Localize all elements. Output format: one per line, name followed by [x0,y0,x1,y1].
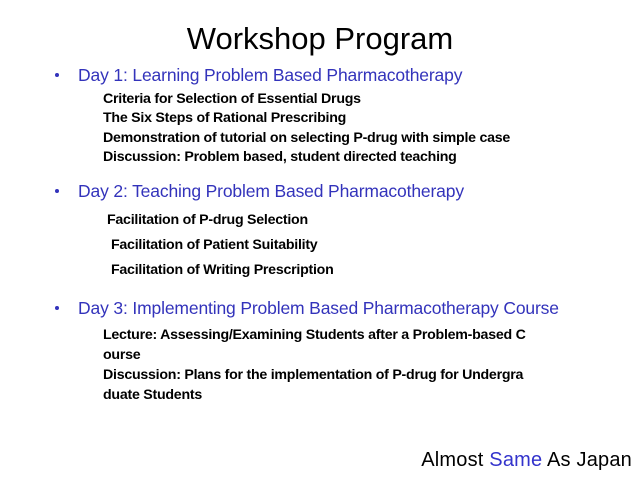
list-item: Discussion: Problem based, student direc… [103,148,640,167]
bullet-icon [55,189,59,193]
list-item-continuation: ourse [103,345,640,365]
day-heading-2-label: Day 2: Teaching Problem Based Pharmacoth… [78,181,464,201]
list-item: Lecture: Assessing/Examining Students af… [103,325,640,345]
list-item: Demonstration of tutorial on selecting P… [103,129,640,148]
list-item: Criteria for Selection of Essential Drug… [103,90,640,109]
day-heading-3-label: Day 3: Implementing Problem Based Pharma… [78,298,559,318]
day-heading-1[interactable]: Day 1: Learning Problem Based Pharmacoth… [44,64,640,86]
slide-body: Day 1: Learning Problem Based Pharmacoth… [44,64,640,405]
slide-footer: Almost Same As Japan [0,447,632,473]
day-3-sub-list: Lecture: Assessing/Examining Students af… [44,325,640,405]
slide-canvas: Workshop Program Day 1: Learning Problem… [0,0,640,480]
footer-suffix: As Japan [542,449,632,471]
day-1-sub-list: Criteria for Selection of Essential Drug… [44,90,640,168]
page-title: Workshop Program [0,21,640,57]
list-item: Discussion: Plans for the implementation… [103,365,640,385]
list-item: Facilitation of Writing Prescription [107,258,640,283]
bullet-icon [55,306,59,310]
day-heading-1-label: Day 1: Learning Problem Based Pharmacoth… [78,65,462,85]
list-item: Facilitation of Patient Suitability [107,233,640,258]
list-item: The Six Steps of Rational Prescribing [103,109,640,128]
day-group-1: Day 1: Learning Problem Based Pharmacoth… [44,64,640,168]
list-item: Facilitation of P-drug Selection [107,208,640,233]
footer-highlight: Same [489,449,542,471]
day-group-3: Day 3: Implementing Problem Based Pharma… [44,297,640,405]
day-heading-2[interactable]: Day 2: Teaching Problem Based Pharmacoth… [44,180,640,202]
list-item-continuation: duate Students [103,385,640,405]
day-heading-3[interactable]: Day 3: Implementing Problem Based Pharma… [44,297,640,319]
day-2-sub-list: Facilitation of P-drug Selection Facilit… [44,208,640,283]
bullet-icon [55,73,59,77]
day-group-2: Day 2: Teaching Problem Based Pharmacoth… [44,180,640,283]
footer-prefix: Almost [421,449,489,471]
